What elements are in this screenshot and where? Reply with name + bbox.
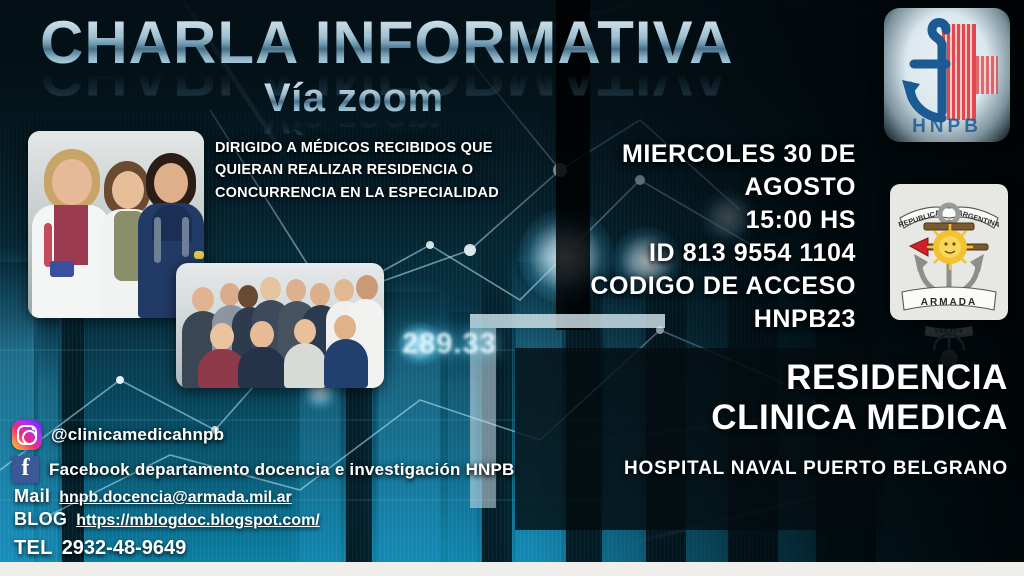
mail-row[interactable]: Mail hnpb.docencia@armada.mil.ar xyxy=(14,485,532,508)
blog-url[interactable]: https://mblogdoc.blogspot.com/ xyxy=(76,511,320,531)
event-access-code-value: HNPB23 xyxy=(540,303,856,336)
instagram-row[interactable]: @clinicamedicahnpb xyxy=(12,420,532,450)
facebook-icon[interactable]: f xyxy=(12,456,39,483)
background-readout-number: 289.33 xyxy=(402,328,497,361)
event-meeting-id: ID 813 9554 1104 xyxy=(540,237,856,270)
poster-subtitle-text: Vía zoom xyxy=(264,78,444,118)
program-line-2: CLINICA MEDICA xyxy=(488,398,1008,438)
facebook-page-name[interactable]: Facebook departamento docencia e investi… xyxy=(49,460,515,480)
mail-label: Mail xyxy=(14,485,50,508)
page-bottom-strip xyxy=(0,562,1024,576)
instagram-icon[interactable] xyxy=(12,420,42,450)
telephone-number[interactable]: 2932-48-9649 xyxy=(62,536,187,562)
event-date-line-1: MIERCOLES 30 DE xyxy=(540,138,856,171)
event-time: 15:00 HS xyxy=(540,204,856,237)
program-institution: HOSPITAL NAVAL PUERTO BELGRANO xyxy=(488,458,1008,480)
facebook-row[interactable]: f Facebook departamento docencia e inves… xyxy=(12,456,532,483)
hnpb-logo-text: HNPB xyxy=(884,116,1010,138)
event-access-code-label: CODIGO DE ACCESO xyxy=(540,270,856,303)
photo-medical-team-group xyxy=(176,263,384,388)
armada-argentina-crest: REPUBLICA ARGENTINA xyxy=(890,184,1008,320)
blog-row[interactable]: BLOG https://mblogdoc.blogspot.com/ xyxy=(14,508,532,531)
poster-subtitle: Vía zoom Vía zoom xyxy=(264,78,444,139)
poster-canvas: 289.33 CHARLA INFORMATIVA CHARLA INFORMA… xyxy=(0,0,1024,562)
telephone-label: TEL xyxy=(14,536,53,562)
blurb-line-2: QUIERAN REALIZAR RESIDENCIA O xyxy=(215,159,565,181)
hnpb-logo: HNPB xyxy=(884,8,1010,142)
instagram-handle[interactable]: @clinicamedicahnpb xyxy=(51,425,224,445)
audience-blurb: DIRIGIDO A MÉDICOS RECIBIDOS QUE QUIERAN… xyxy=(215,137,565,204)
armada-crest-reflection: ARMADA xyxy=(890,321,1008,391)
svg-text:ARMADA: ARMADA xyxy=(935,327,964,333)
contact-block: @clinicamedicahnpb f Facebook departamen… xyxy=(12,420,532,562)
poster-title-text: CHARLA INFORMATIVA xyxy=(40,13,733,73)
blurb-line-3: CONCURRENCIA EN LA ESPECIALIDAD xyxy=(215,182,565,204)
event-details: MIERCOLES 30 DE AGOSTO 15:00 HS ID 813 9… xyxy=(540,138,856,336)
mail-address[interactable]: hnpb.docencia@armada.mil.ar xyxy=(59,488,292,508)
blog-label: BLOG xyxy=(14,508,67,531)
event-date-line-2: AGOSTO xyxy=(540,171,856,204)
blurb-line-1: DIRIGIDO A MÉDICOS RECIBIDOS QUE xyxy=(215,137,565,159)
telephone-row[interactable]: TEL 2932-48-9649 xyxy=(14,536,532,562)
poster-subtitle-reflection: Vía zoom xyxy=(264,119,444,139)
armada-banner-bottom-text: ARMADA xyxy=(921,297,977,308)
